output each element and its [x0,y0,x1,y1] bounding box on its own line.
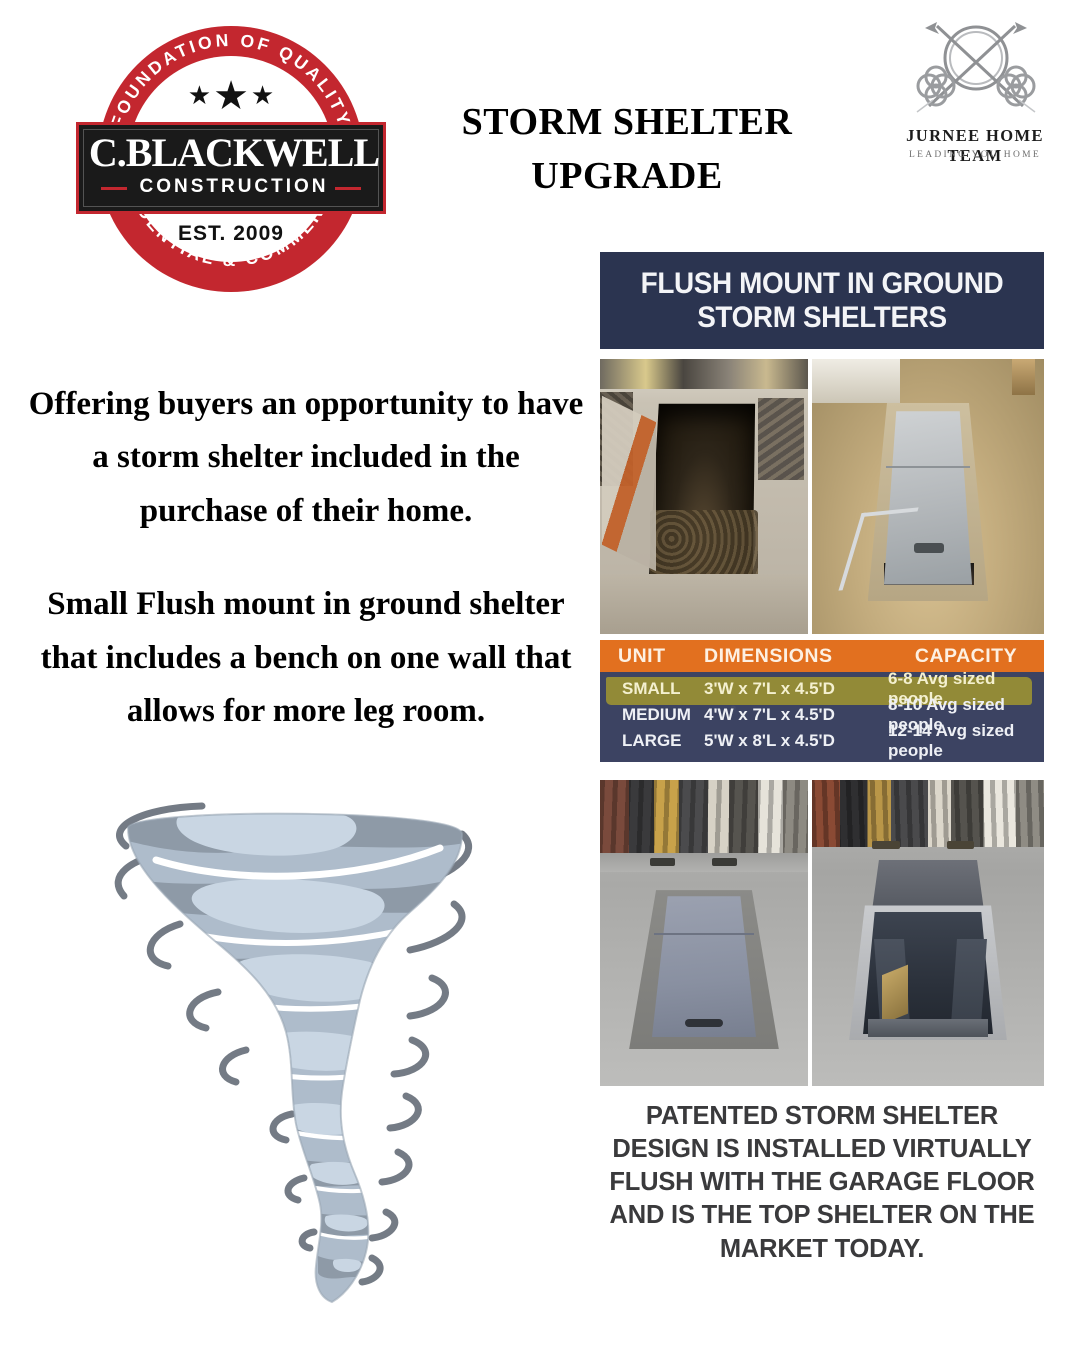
flyer-caption: PATENTED STORM SHELTER DESIGN IS INSTALL… [600,1100,1044,1266]
table-header-dimensions: DIMENSIONS [704,645,888,668]
banner-line-1: FLUSH MOUNT IN GROUND [641,267,1004,301]
photo-row-bottom [600,780,1044,1086]
body-paragraph-2: Small Flush mount in ground shelter that… [28,578,584,738]
jurnee-logo-name: JURNEE HOME TEAM [885,126,1065,166]
photo-installed-door-dirt [812,359,1044,634]
row-dimensions: 3'W x 7'L x 4.5'D [704,679,888,699]
jurnee-logo-tagline: LEADING YOU HOME [885,150,1065,160]
row-dimensions: 4'W x 7'L x 4.5'D [704,705,888,725]
table-row: LARGE 5'W x 8'L x 4.5'D 12-14 Avg sized … [600,728,1044,754]
jurnee-home-team-logo: JURNEE HOME TEAM LEADING YOU HOME [885,14,1065,179]
storm-shelter-flyer: FLUSH MOUNT IN GROUND STORM SHELTERS [600,252,1044,1310]
table-header-unit: UNIT [600,645,704,668]
banner-line-2: STORM SHELTERS [641,301,1004,335]
logo-established-year: EST. 2009 [128,222,334,246]
dimensions-table: UNIT DIMENSIONS CAPACITY SMALL 3'W x 7'L… [600,640,1044,762]
page-title-line2: UPGRADE [392,150,862,204]
left-body-copy: Offering buyers an opportunity to have a… [28,378,584,739]
row-unit: SMALL [600,679,704,699]
flyer-banner: FLUSH MOUNT IN GROUND STORM SHELTERS [600,252,1044,349]
tornado-illustration [110,800,480,1310]
photo-garage-door-closed [600,780,808,1086]
blackwell-construction-logo: FOUNDATION OF QUALITY RESIDENTIAL & COMM… [76,18,386,308]
page-title: STORM SHELTER UPGRADE [392,96,862,204]
flyer-banner-text: FLUSH MOUNT IN GROUND STORM SHELTERS [641,267,1004,334]
logo-name-plate: C.BLACKWELL CONSTRUCTION [76,122,386,214]
table-header-row: UNIT DIMENSIONS CAPACITY [600,640,1044,672]
photo-shelter-open-bench [812,780,1044,1086]
logo-stars: ★★★ [128,76,334,116]
logo-rule-right [335,187,361,190]
row-unit: MEDIUM [600,705,704,725]
header: FOUNDATION OF QUALITY RESIDENTIAL & COMM… [0,0,1080,250]
photo-row-top [600,359,1044,634]
photo-excavated-pit [600,359,808,634]
page-title-line1: STORM SHELTER [392,96,862,150]
row-capacity: 12-14 Avg sized people [888,721,1044,761]
table-header-capacity: CAPACITY [888,645,1044,668]
body-paragraph-1: Offering buyers an opportunity to have a… [28,378,584,538]
table-body: SMALL 3'W x 7'L x 4.5'D 6-8 Avg sized pe… [600,672,1044,762]
logo-company-name: C.BLACKWELL [79,133,389,173]
row-dimensions: 5'W x 8'L x 4.5'D [704,731,888,751]
crossed-arrows-icon [903,14,1049,126]
row-unit: LARGE [600,731,704,751]
